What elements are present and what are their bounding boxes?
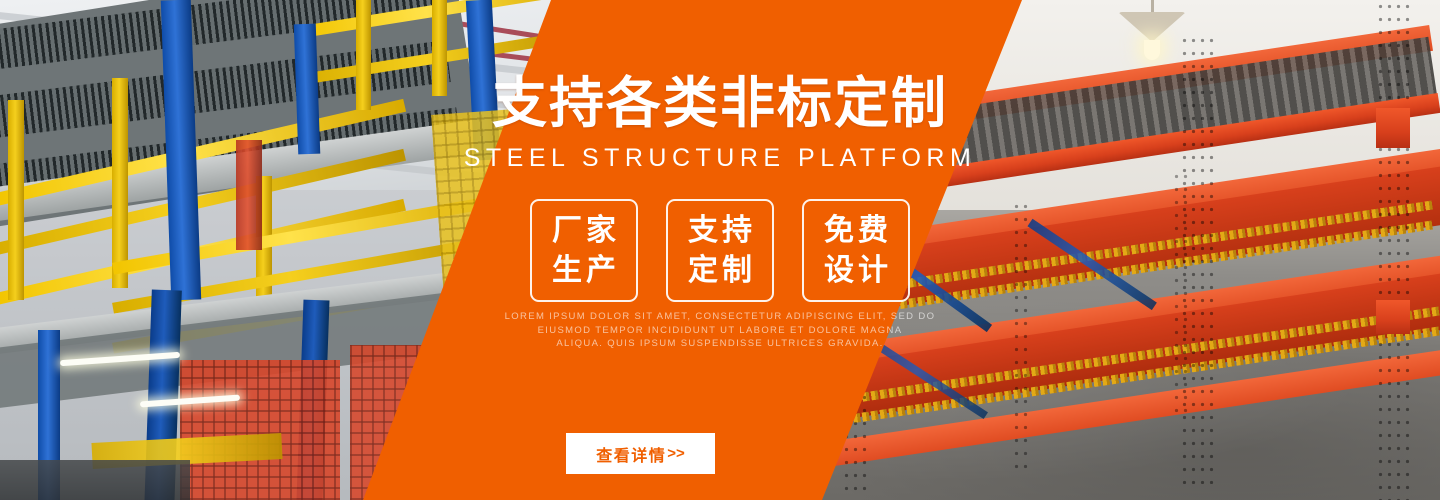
view-details-button[interactable]: 查看详情>>	[566, 433, 715, 474]
banner-title: 支持各类非标定制	[0, 72, 1440, 134]
banner-description: LOREM IPSUM DOLOR SIT AMET, CONSECTETUR …	[0, 310, 1440, 351]
cta-label: 查看详情	[596, 442, 666, 466]
description-line-3: ALIQUA. QUIS IPSUM SUSPENDISSE ULTRICES …	[0, 337, 1440, 351]
feature-badges: 厂家 生产 支持 定制 免费 设计	[0, 199, 1440, 302]
banner-subtitle: STEEL STRUCTURE PLATFORM	[0, 143, 1440, 173]
description-line-1: LOREM IPSUM DOLOR SIT AMET, CONSECTETUR …	[0, 310, 1440, 324]
description-line-2: EIUSMOD TEMPOR INCIDIDUNT UT LABORE ET D…	[0, 324, 1440, 338]
badge-line-1: 免费	[820, 211, 892, 251]
badge-customization[interactable]: 支持 定制	[666, 199, 774, 302]
badge-line-1: 厂家	[548, 211, 620, 251]
badge-free-design[interactable]: 免费 设计	[802, 199, 910, 302]
badge-line-2: 设计	[820, 251, 892, 291]
chevron-right-icon: >>	[667, 445, 685, 462]
promo-banner: 支持各类非标定制 STEEL STRUCTURE PLATFORM 厂家 生产 …	[0, 0, 1440, 500]
badge-line-2: 生产	[548, 251, 620, 291]
badge-line-1: 支持	[684, 211, 756, 251]
banner-content: 支持各类非标定制 STEEL STRUCTURE PLATFORM 厂家 生产 …	[0, 0, 1440, 500]
badge-manufacturer[interactable]: 厂家 生产	[530, 199, 638, 302]
badge-line-2: 定制	[684, 251, 756, 291]
